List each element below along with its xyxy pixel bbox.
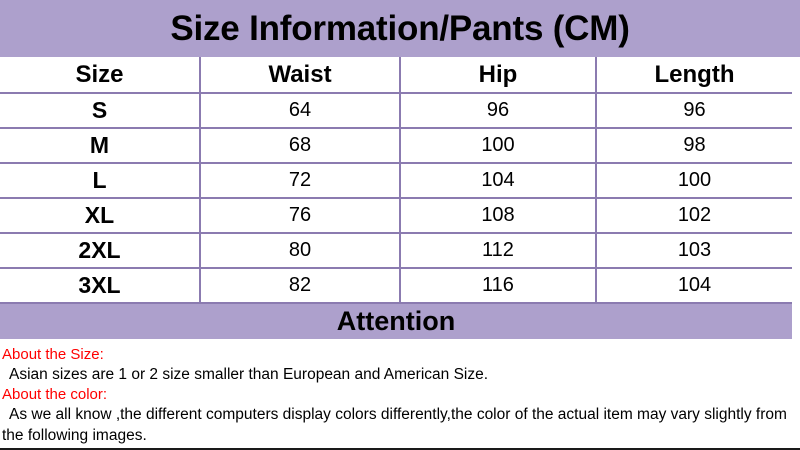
cell-hip: 96 bbox=[400, 93, 596, 128]
cell-waist: 80 bbox=[200, 233, 400, 268]
size-note-heading: About the Size: bbox=[2, 345, 790, 364]
size-chart-image: Size Information/Pants (CM) Size Waist H… bbox=[0, 0, 800, 450]
column-header-hip: Hip bbox=[400, 57, 596, 93]
cell-size: M bbox=[0, 128, 200, 163]
table-row: 2XL 80 112 103 bbox=[0, 233, 792, 268]
color-note-body: As we all know ,the different computers … bbox=[2, 404, 790, 446]
cell-hip: 112 bbox=[400, 233, 596, 268]
cell-hip: 100 bbox=[400, 128, 596, 163]
table-header-row: Size Waist Hip Length bbox=[0, 57, 792, 93]
cell-size: S bbox=[0, 93, 200, 128]
cell-waist: 72 bbox=[200, 163, 400, 198]
table-row: S 64 96 96 bbox=[0, 93, 792, 128]
cell-waist: 64 bbox=[200, 93, 400, 128]
title-banner: Size Information/Pants (CM) bbox=[0, 0, 800, 57]
attention-banner: Attention bbox=[0, 302, 792, 339]
table-row: XL 76 108 102 bbox=[0, 198, 792, 233]
cell-waist: 68 bbox=[200, 128, 400, 163]
attention-label: Attention bbox=[337, 308, 455, 335]
cell-length: 96 bbox=[596, 93, 792, 128]
table-row: 3XL 82 116 104 bbox=[0, 268, 792, 302]
size-information-table: Size Waist Hip Length S 64 96 96 M 68 10… bbox=[0, 57, 792, 302]
column-header-size: Size bbox=[0, 57, 200, 93]
cell-length: 100 bbox=[596, 163, 792, 198]
column-header-length: Length bbox=[596, 57, 792, 93]
cell-size: 2XL bbox=[0, 233, 200, 268]
column-header-waist: Waist bbox=[200, 57, 400, 93]
cell-length: 98 bbox=[596, 128, 792, 163]
color-note-heading: About the color: bbox=[2, 385, 790, 404]
cell-waist: 76 bbox=[200, 198, 400, 233]
table-row: M 68 100 98 bbox=[0, 128, 792, 163]
cell-length: 102 bbox=[596, 198, 792, 233]
cell-size: XL bbox=[0, 198, 200, 233]
attention-notes: About the Size: Asian sizes are 1 or 2 s… bbox=[0, 339, 792, 446]
size-note-body: Asian sizes are 1 or 2 size smaller than… bbox=[2, 364, 790, 385]
cell-hip: 116 bbox=[400, 268, 596, 302]
cell-length: 104 bbox=[596, 268, 792, 302]
cell-size: L bbox=[0, 163, 200, 198]
cell-length: 103 bbox=[596, 233, 792, 268]
table-row: L 72 104 100 bbox=[0, 163, 792, 198]
cell-waist: 82 bbox=[200, 268, 400, 302]
cell-hip: 104 bbox=[400, 163, 596, 198]
page-title: Size Information/Pants (CM) bbox=[170, 11, 629, 46]
cell-hip: 108 bbox=[400, 198, 596, 233]
cell-size: 3XL bbox=[0, 268, 200, 302]
